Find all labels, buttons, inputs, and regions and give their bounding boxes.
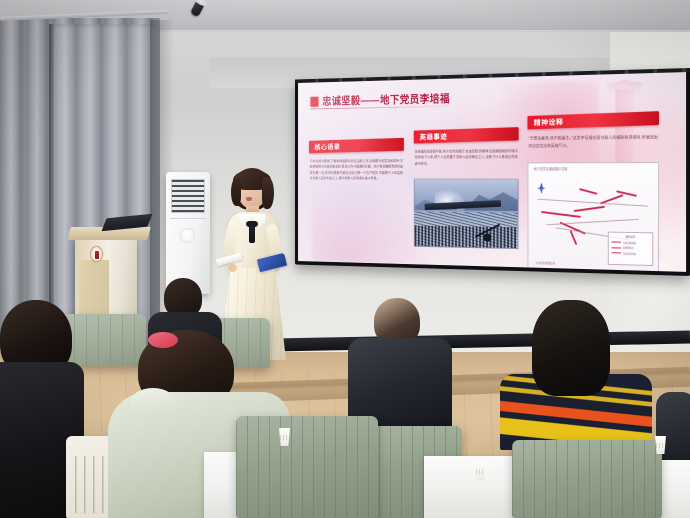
map-footnote: 注:据史料整理绘制 <box>536 261 555 265</box>
column-heading-bar: 精神诠释 <box>528 111 659 129</box>
attendee-grey-jacket-male <box>348 298 452 428</box>
legend-label: 活动区域范围 <box>623 251 636 255</box>
map-legend: 图例说明 主要交通线路 秘密联络点 活动区域范围 <box>608 232 653 266</box>
legend-swatch-icon <box>612 241 621 242</box>
map-legend-title: 图例说明 <box>612 235 650 240</box>
column-heading-label: 英雄事迹 <box>420 131 448 142</box>
podium-emblem-icon <box>90 246 103 262</box>
led-screen-bezel: 忠诚坚毅——地下党员李培福 核心语录 只有为群众着想,了解和体贴群众的生活和工作… <box>295 68 690 276</box>
map-legend-item: 主要交通线路 <box>612 240 650 245</box>
chair-front-right <box>512 440 662 518</box>
slide-column-core-quotes: 核心语录 只有为群众着想,了解和体贴群众的生活和工作,反映群众的意见和呼声,才能… <box>309 139 404 269</box>
historical-illustration-image <box>414 178 519 249</box>
chair-front-center <box>236 416 378 518</box>
presenter-bow-tie <box>249 224 255 243</box>
map-legend-item: 秘密联络点 <box>612 246 650 251</box>
coat-hood <box>130 388 176 418</box>
column-body-text: 只有为群众着想,了解和体贴群众的生活和工作,反映群众的意见和呼声,才能得到群众的… <box>309 156 404 268</box>
attendee-striped-sweater <box>500 300 652 448</box>
slide-columns: 核心语录 只有为群众着想,了解和体贴群众的生活和工作,反映群众的意见和呼声,才能… <box>309 114 595 266</box>
column-heading-label: 精神诠释 <box>534 116 564 128</box>
led-screen-display: 忠诚坚毅——地下党员李培福 核心语录 只有为群众着想,了解和体贴群众的生活和工作… <box>298 72 686 272</box>
column-heading-label: 核心语录 <box>314 141 340 152</box>
compass-north-icon <box>537 183 545 195</box>
slide-column-heroic-deeds: 英雄事迹 李培福同志坚韧不拔,用十年时间践行“忠诚坚毅”的精神,在极端困难的环境… <box>414 128 519 249</box>
column-heading-bar: 核心语录 <box>309 138 404 154</box>
column-body-text: 李培福同志坚韧不拔,用十年时间践行“忠诚坚毅”的精神,在极端困难的环境中坚持地下… <box>414 146 519 175</box>
map-caption: 地下党员交通线路示意图 <box>534 166 568 171</box>
presenter-mouth <box>246 197 252 201</box>
legend-label: 秘密联络点 <box>623 246 634 250</box>
slide-column-spirit: 精神诠释 “宁愿站着死,绝不跪着生。”这是李培福在面对敌人的威胁和诱惑时,所展现… <box>528 113 659 272</box>
column-heading-bar: 英雄事迹 <box>414 127 519 143</box>
legend-swatch-icon <box>612 247 621 248</box>
air-conditioner-display <box>180 228 195 243</box>
red-square-marker-icon <box>311 96 319 106</box>
conference-room-photo: 忠诚坚毅——地下党员李培福 核心语录 只有为群众着想,了解和体贴群众的生活和工作… <box>0 0 690 518</box>
air-conditioner <box>166 172 210 294</box>
route-map-image: 地下党员交通线路示意图 图例说明 <box>528 162 659 272</box>
column-body-text: “宁愿站着死,绝不跪着生。”这是李培福在面对敌人的威胁和诱惑时,所展现出的坚定信… <box>528 131 659 157</box>
legend-swatch-icon <box>612 252 621 253</box>
legend-label: 主要交通线路 <box>623 240 636 244</box>
curtain-gap <box>49 24 54 342</box>
attendee-hair <box>532 300 610 396</box>
pink-scrunchie-icon <box>148 332 178 348</box>
air-conditioner-vent-icon <box>171 179 205 213</box>
map-legend-item: 活动区域范围 <box>612 251 650 256</box>
